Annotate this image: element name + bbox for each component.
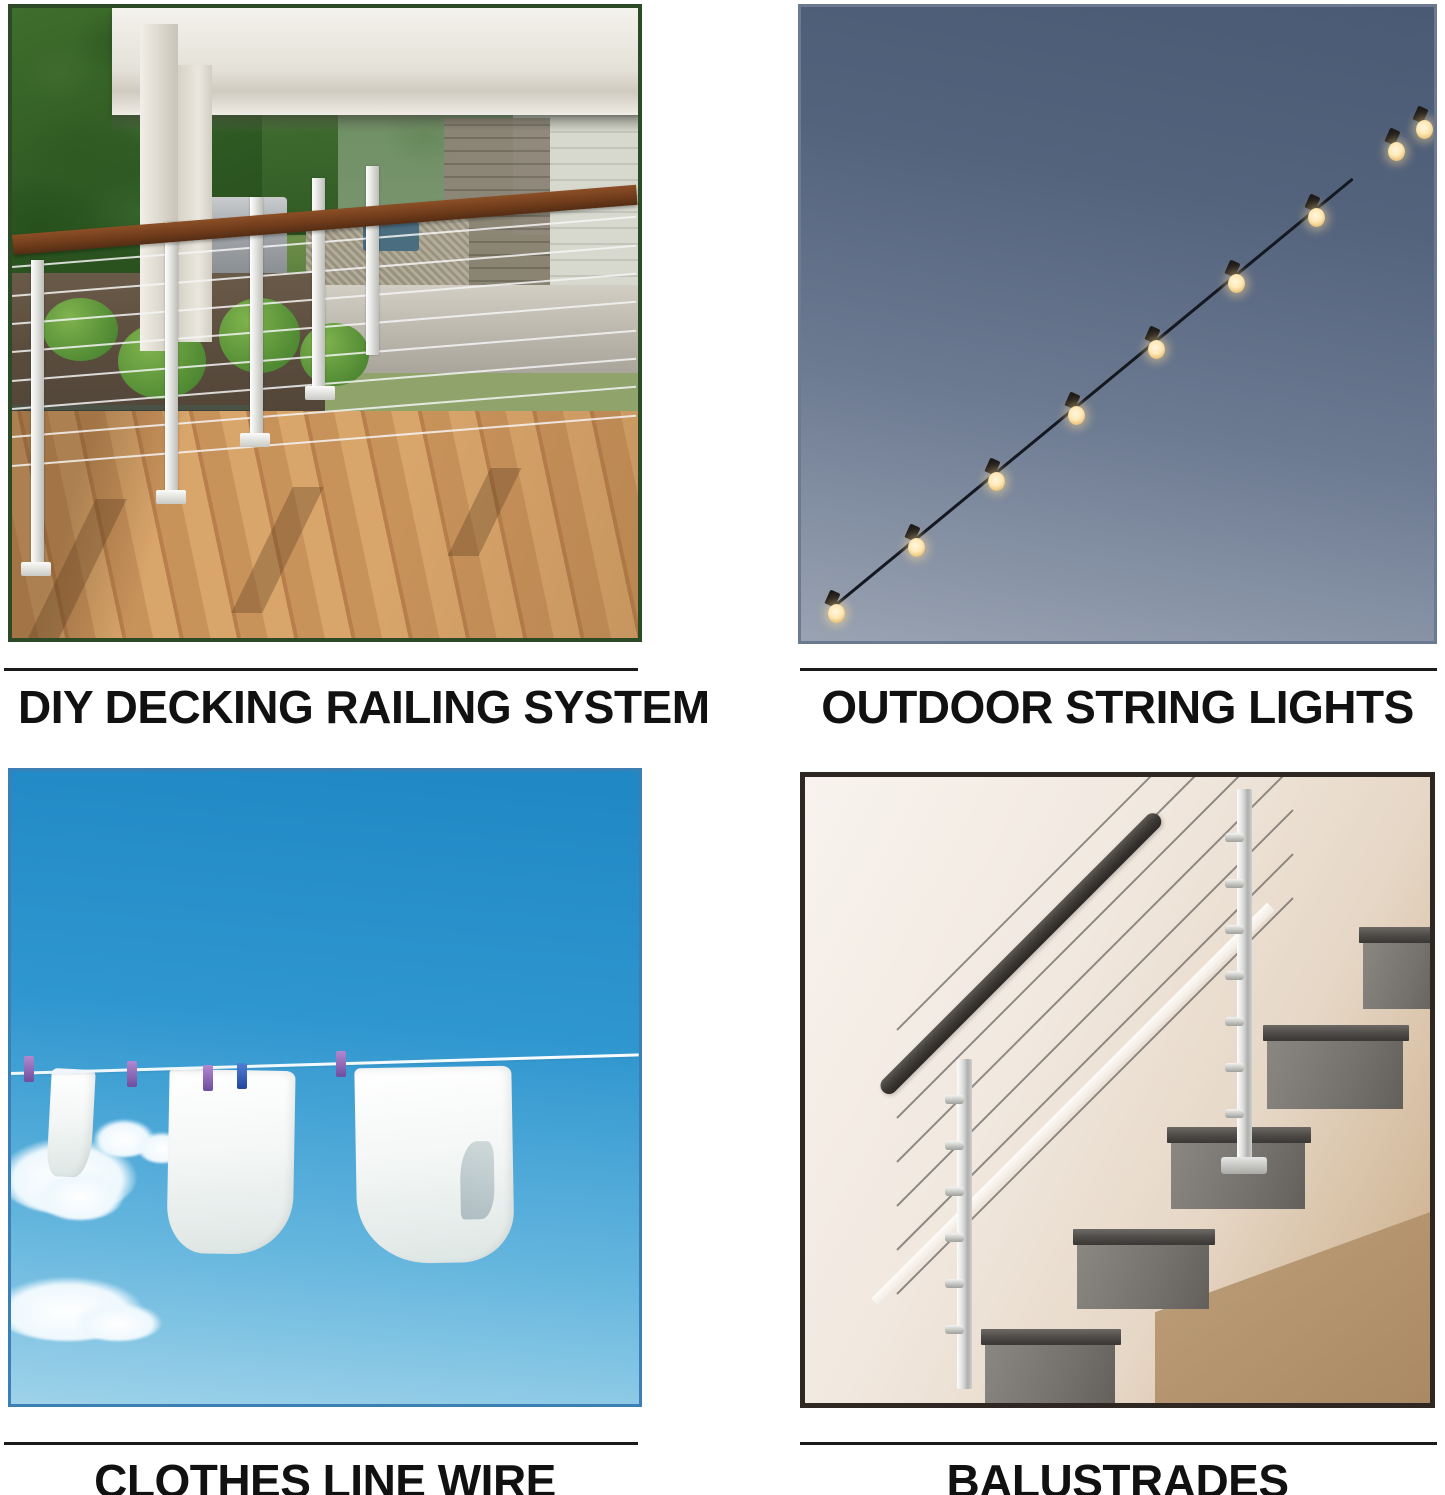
caption-rule-deck bbox=[4, 668, 638, 671]
stair-tread bbox=[1359, 927, 1430, 943]
clothes-line-photo[interactable] bbox=[8, 768, 642, 1407]
deck-porch-column bbox=[178, 65, 212, 342]
cable-fitting bbox=[945, 1141, 964, 1150]
caption-balustrades: BALUSTRADES bbox=[798, 1458, 1437, 1495]
deck-post-base bbox=[21, 562, 51, 576]
deck-cable-railing-photo[interactable] bbox=[8, 4, 642, 642]
cable-fitting bbox=[945, 1095, 964, 1104]
stair-tread bbox=[1073, 1229, 1215, 1245]
caption-rule-clothes bbox=[4, 1442, 638, 1445]
cable-fitting bbox=[1225, 1017, 1244, 1026]
deck-post-base bbox=[156, 490, 186, 504]
balustrade-scene bbox=[805, 777, 1430, 1403]
caption-rule-balustrades bbox=[800, 1442, 1437, 1445]
cable-fitting bbox=[1225, 879, 1244, 888]
balustrade-post-base bbox=[1221, 1157, 1267, 1174]
cable-fitting bbox=[945, 1187, 964, 1196]
stair-riser bbox=[1267, 1033, 1403, 1109]
balustrade-post bbox=[957, 1059, 972, 1389]
deck-scene bbox=[12, 8, 638, 638]
deck-rail-post bbox=[165, 222, 178, 499]
stair-tread bbox=[1263, 1025, 1409, 1041]
caption-clothes-line-wire: CLOTHES LINE WIRE bbox=[8, 1458, 642, 1495]
string-lights-scene bbox=[801, 7, 1434, 641]
stair-riser bbox=[985, 1337, 1115, 1403]
cable-fitting bbox=[1225, 833, 1244, 842]
cable-fitting bbox=[945, 1325, 964, 1334]
stair-riser bbox=[1363, 935, 1430, 1009]
stair-tread bbox=[981, 1329, 1121, 1345]
garment-fold bbox=[460, 1141, 496, 1220]
caption-outdoor-string-lights: OUTDOOR STRING LIGHTS bbox=[798, 684, 1437, 730]
deck-rail-post bbox=[31, 260, 44, 575]
cloud bbox=[36, 1170, 124, 1221]
deck-post-base bbox=[305, 386, 335, 400]
string-lights-photo[interactable] bbox=[798, 4, 1437, 644]
cable-fitting bbox=[1225, 925, 1244, 934]
cable-fitting bbox=[945, 1233, 964, 1242]
stair-balustrade-photo[interactable] bbox=[800, 772, 1435, 1408]
clothespin bbox=[203, 1065, 213, 1091]
caption-diy-decking-railing-system: DIY DECKING RAILING SYSTEM bbox=[18, 684, 710, 730]
cable-fitting bbox=[945, 1279, 964, 1288]
caption-rule-lights bbox=[800, 668, 1437, 671]
clothespin bbox=[127, 1061, 137, 1087]
clothes-line-wire bbox=[11, 1053, 639, 1075]
deck-rail-post bbox=[366, 166, 379, 355]
clothespin bbox=[336, 1051, 346, 1077]
hanging-garment bbox=[355, 1066, 515, 1265]
deck-shrub bbox=[43, 298, 118, 361]
cable-fitting bbox=[1225, 1109, 1244, 1118]
stair-riser bbox=[1077, 1237, 1209, 1309]
clothespin bbox=[24, 1056, 34, 1082]
deck-post-base bbox=[240, 433, 270, 447]
cable-fitting bbox=[1225, 971, 1244, 980]
hanging-garment bbox=[166, 1069, 295, 1255]
image-grid-page: DIY DECKING RAILING SYSTEM bbox=[0, 0, 1445, 1495]
clothes-line-scene bbox=[11, 771, 639, 1404]
cloud bbox=[74, 1303, 162, 1341]
clothespin bbox=[237, 1063, 247, 1089]
cable-fitting bbox=[1225, 1063, 1244, 1072]
